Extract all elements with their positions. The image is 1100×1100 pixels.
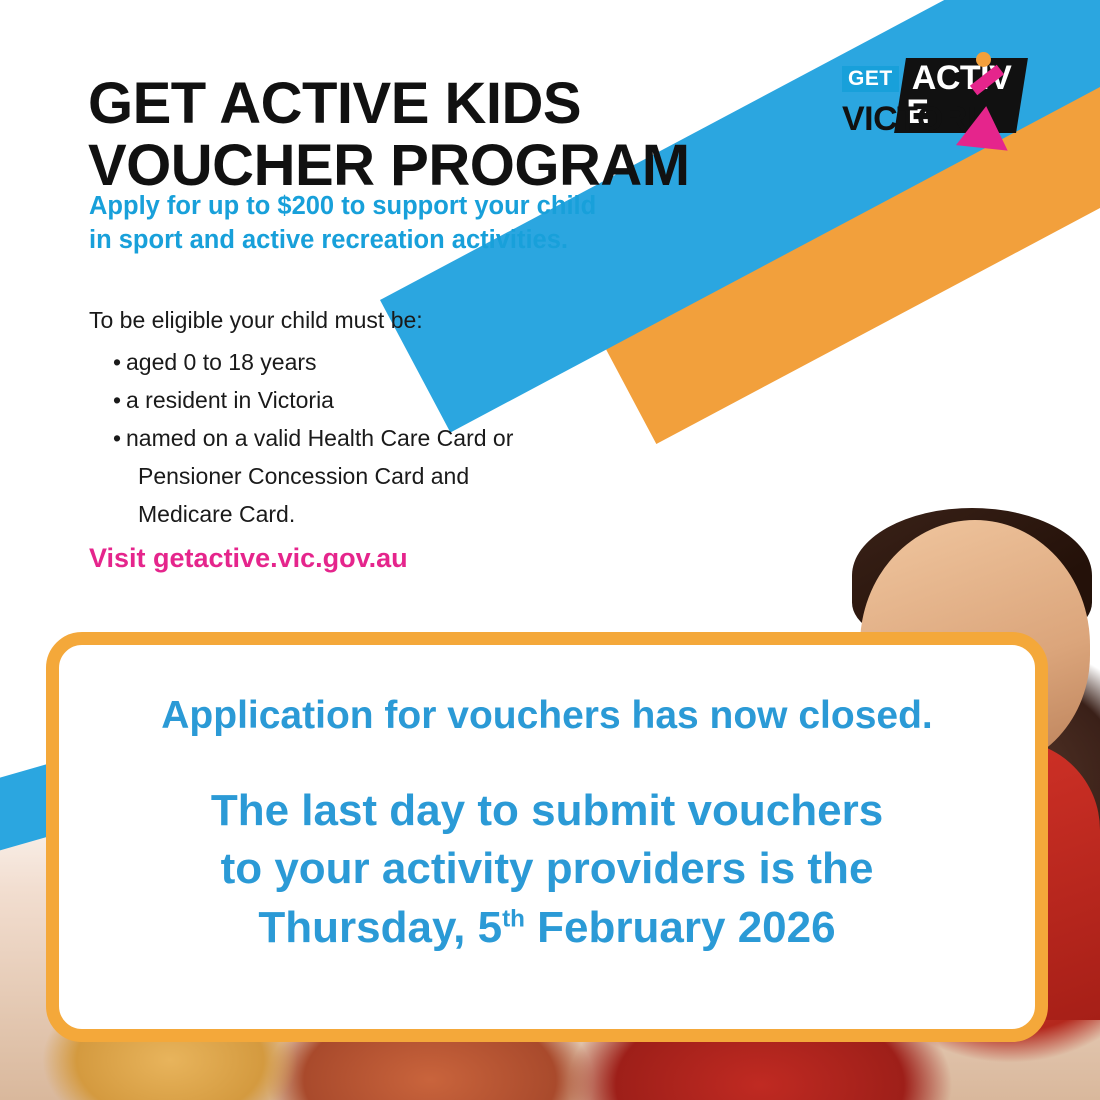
list-item-text: named on a valid Health Care Card or	[126, 425, 513, 451]
notice-body-line-3: Thursday, 5th February 2026	[99, 899, 995, 958]
list-item-text: a resident in Victoria	[126, 387, 334, 413]
eligibility-section: To be eligible your child must be: • age…	[89, 305, 689, 534]
page-title-line-1: GET ACTIVE KIDS	[88, 71, 581, 136]
eligibility-list: • aged 0 to 18 years • a resident in Vic…	[89, 344, 689, 534]
notice-body: The last day to submit vouchers to your …	[59, 782, 1035, 958]
notice-date-prefix: Thursday, 5	[258, 903, 502, 952]
page-title-line-2: VOUCHER PROGRAM	[88, 135, 848, 197]
subtitle-line-1: Apply for up to $200 to support your chi…	[89, 190, 709, 224]
list-item: • aged 0 to 18 years	[89, 344, 689, 382]
logo-victoria-word: VICTORI	[842, 100, 976, 138]
logo-person-body-icon	[956, 103, 1012, 150]
list-item-text-cont-1: Pensioner Concession Card and	[126, 458, 689, 496]
list-bullet: •	[113, 420, 121, 458]
list-item-text: aged 0 to 18 years	[126, 349, 317, 375]
list-bullet: •	[113, 382, 121, 420]
list-item: • a resident in Victoria	[89, 382, 689, 420]
notice-body-line-2: to your activity providers is the	[99, 840, 995, 899]
subtitle: Apply for up to $200 to support your chi…	[89, 190, 709, 258]
list-bullet: •	[113, 344, 121, 382]
notice-heading: Application for vouchers has now closed.	[59, 695, 1035, 738]
visit-website-text[interactable]: Visit getactive.vic.gov.au	[89, 543, 408, 574]
logo-get-text: GET	[842, 66, 899, 92]
notice-body-line-1: The last day to submit vouchers	[99, 782, 995, 841]
logo-person-head-icon	[976, 52, 991, 67]
list-item: • named on a valid Health Care Card or P…	[89, 420, 689, 534]
logo-victoria-text: VICTORI	[842, 102, 976, 136]
eligibility-intro: To be eligible your child must be:	[89, 305, 689, 336]
page-title: GET ACTIVE KIDS VOUCHER PROGRAM	[88, 73, 848, 197]
subtitle-line-2: in sport and active recreation activitie…	[89, 224, 709, 258]
list-item-text-cont-2: Medicare Card.	[126, 496, 689, 534]
child-hair-shape	[852, 508, 1092, 643]
poster: GET ACTIVE KIDS VOUCHER PROGRAM GET ACTI…	[0, 0, 1100, 1100]
notice-date-ordinal: th	[502, 905, 525, 932]
get-active-victoria-logo: GET ACTIVE VICTORI	[842, 52, 1022, 148]
notice-date-suffix: February 2026	[525, 903, 836, 952]
notice-card: Application for vouchers has now closed.…	[46, 632, 1048, 1042]
